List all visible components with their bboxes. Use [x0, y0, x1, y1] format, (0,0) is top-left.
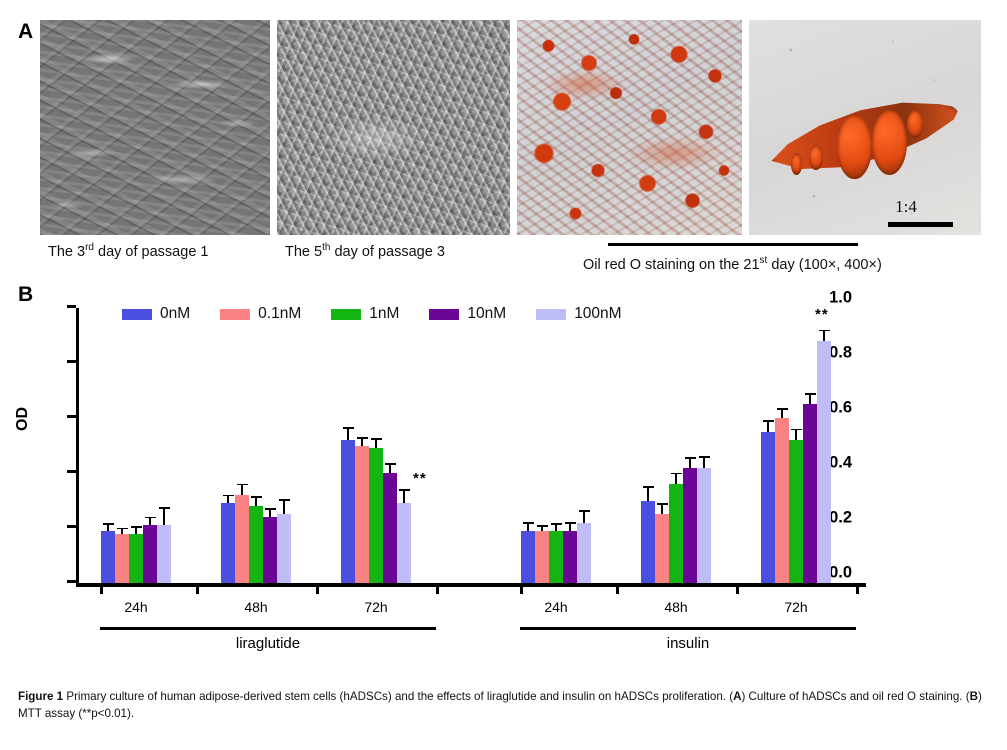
bar-insulin-72h-1nM: [789, 440, 803, 583]
error-bar: [647, 488, 649, 500]
bar-liraglutide-48h-0.1nM: [235, 495, 249, 583]
x-axis-tick-label-24h: 24h: [124, 599, 147, 615]
error-bar-cap: [657, 503, 668, 505]
bar-liraglutide-48h-0nM: [221, 503, 235, 583]
bar-liraglutide-24h-1nM: [129, 534, 143, 584]
lipid-vacuole: [791, 153, 803, 175]
caption-text-post: day of passage 3: [330, 244, 444, 260]
caption-passage1-day3: The 3rd day of passage 1: [48, 242, 208, 260]
panel-a-micrographs: A 1:4 The 3rd day of passage 1 The 5th d…: [0, 0, 1007, 275]
error-bar: [527, 524, 529, 531]
error-bar-cap: [777, 408, 788, 410]
error-bar: [121, 529, 123, 533]
supergroup-label-insulin: insulin: [667, 635, 710, 652]
error-bar: [675, 474, 677, 484]
error-bar-cap: [671, 473, 682, 475]
y-axis-tick: [67, 470, 76, 473]
adipocyte-image: 1:4: [749, 20, 981, 235]
y-axis-tick-label: 1.0: [829, 289, 852, 308]
error-bar-cap: [551, 523, 562, 525]
micrograph-passage3-day5: [277, 20, 510, 235]
error-bar: [361, 439, 363, 446]
error-bar-cap: [643, 486, 654, 488]
error-bar-cap: [103, 523, 114, 525]
caption-text-post: day of passage 1: [94, 244, 208, 260]
error-bar-cap: [371, 438, 382, 440]
error-bar-cap: [279, 499, 290, 501]
x-axis-tick: [520, 583, 523, 594]
error-bar: [107, 525, 109, 531]
lipid-vacuole: [872, 110, 907, 175]
supergroup-underline-liraglutide: [100, 627, 436, 630]
error-bar-cap: [819, 330, 830, 332]
bar-insulin-72h-100nM: [817, 341, 831, 583]
y-axis-tick: [67, 415, 76, 418]
bar-insulin-24h-0.1nM: [535, 531, 549, 583]
bar-liraglutide-24h-10nM: [143, 525, 157, 583]
error-bar-cap: [805, 393, 816, 395]
error-bar: [389, 465, 391, 473]
bar-liraglutide-48h-100nM: [277, 514, 291, 583]
bar-liraglutide-48h-10nM: [263, 517, 277, 583]
caption-sentence-2: ) Culture of hADSCs and oil red O staini…: [741, 690, 969, 703]
supergroup-label-liraglutide: liraglutide: [236, 635, 300, 652]
error-bar: [283, 501, 285, 515]
lipid-vacuole: [837, 115, 872, 180]
x-axis-tick-label-48h: 48h: [664, 599, 687, 615]
bar-insulin-72h-10nM: [803, 404, 817, 583]
bar-liraglutide-24h-0.1nM: [115, 534, 129, 584]
bar-liraglutide-24h-0nM: [101, 531, 115, 583]
error-bar: [823, 331, 825, 341]
x-axis-line: [76, 583, 866, 587]
y-axis-tick-label: 0.6: [829, 399, 852, 418]
caption-bold-b: B: [970, 690, 978, 703]
bar-insulin-48h-10nM: [683, 468, 697, 584]
error-bar-cap: [251, 496, 262, 498]
plot-area: 0.00.20.40.60.81.0****: [76, 308, 866, 583]
significance-marker: **: [413, 470, 427, 487]
error-bar: [269, 510, 271, 517]
micrograph-oil-red-o-100x: [517, 20, 742, 235]
significance-marker: **: [815, 306, 829, 323]
lipid-vacuole: [907, 110, 923, 138]
error-bar-cap: [131, 526, 142, 528]
bar-liraglutide-72h-0nM: [341, 440, 355, 583]
caption-text-post: day (100×, 400×): [767, 257, 881, 273]
caption-text-pre: The 3: [48, 244, 85, 260]
micrograph-passage1-day3: [40, 20, 270, 235]
error-bar: [689, 459, 691, 467]
bar-liraglutide-72h-1nM: [369, 448, 383, 583]
bar-liraglutide-72h-10nM: [383, 473, 397, 583]
error-bar-cap: [399, 489, 410, 491]
error-bar: [347, 429, 349, 440]
bar-liraglutide-72h-100nM: [397, 503, 411, 583]
error-bar-cap: [265, 508, 276, 510]
phase-contrast-image: [40, 20, 270, 235]
x-axis-tick-label-72h: 72h: [784, 599, 807, 615]
caption-text-pre: Oil red O staining on the 21: [583, 257, 760, 273]
x-axis-tick: [316, 583, 319, 594]
caption-ordinal-suffix: rd: [85, 242, 94, 253]
x-axis-tick-label-24h: 24h: [544, 599, 567, 615]
x-axis-tick: [436, 583, 439, 594]
error-bar-cap: [699, 456, 710, 458]
error-bar: [703, 458, 705, 468]
figure-caption: Figure 1 Primary culture of human adipos…: [18, 688, 993, 723]
bar-insulin-48h-0nM: [641, 501, 655, 584]
y-axis-tick: [67, 360, 76, 363]
error-bar: [255, 498, 257, 506]
error-bar-cap: [579, 510, 590, 512]
error-bar-cap: [791, 429, 802, 431]
error-bar-cap: [223, 495, 234, 497]
error-bar: [149, 518, 151, 525]
bar-liraglutide-24h-100nM: [157, 525, 171, 583]
error-bar: [767, 422, 769, 432]
error-bar-cap: [385, 463, 396, 465]
oil-red-o-stain-image: [517, 20, 742, 235]
bar-insulin-72h-0nM: [761, 432, 775, 583]
x-axis-tick-label-48h: 48h: [244, 599, 267, 615]
error-bar-cap: [763, 420, 774, 422]
figure-label: Figure 1: [18, 690, 63, 703]
bar-insulin-48h-1nM: [669, 484, 683, 583]
y-axis-tick-label: 0.8: [829, 344, 852, 363]
micrograph-oil-red-o-400x: 1:4: [749, 20, 981, 235]
supergroup-underline-insulin: [520, 627, 856, 630]
error-bar: [555, 525, 557, 531]
oil-red-o-group-underline: [608, 243, 858, 246]
x-axis-tick: [856, 583, 859, 594]
error-bar: [403, 491, 405, 503]
error-bar: [241, 485, 243, 495]
caption-sentence-1: Primary culture of human adipose-derived…: [63, 690, 733, 703]
panel-letter-a: A: [18, 20, 33, 44]
y-axis-tick-label: 0.4: [829, 454, 852, 473]
bar-insulin-24h-1nM: [549, 531, 563, 583]
x-axis-tick-label-72h: 72h: [364, 599, 387, 615]
scale-bar: [888, 222, 953, 227]
panel-letter-b: B: [18, 283, 33, 307]
error-bar: [569, 524, 571, 531]
error-bar: [661, 505, 663, 515]
y-axis-tick-label: 0.2: [829, 509, 852, 528]
bar-insulin-24h-10nM: [563, 531, 577, 583]
error-bar: [583, 512, 585, 523]
error-bar-cap: [685, 457, 696, 459]
error-bar: [809, 395, 811, 405]
error-bar-cap: [145, 517, 156, 519]
error-bar: [375, 440, 377, 448]
bar-liraglutide-48h-1nM: [249, 506, 263, 583]
error-bar-cap: [523, 522, 534, 524]
bar-insulin-48h-100nM: [697, 468, 711, 584]
error-bar: [163, 509, 165, 526]
y-axis-tick: [67, 580, 76, 583]
panel-b-chart: B OD 0nM0.1nM1nM10nM100nM 0.00.20.40.60.…: [0, 275, 1007, 680]
error-bar: [795, 430, 797, 440]
error-bar: [135, 528, 137, 534]
y-axis-title: OD: [14, 407, 32, 431]
y-axis-tick-label: 0.0: [829, 564, 852, 583]
caption-oil-red-o: Oil red O staining on the 21st day (100×…: [583, 255, 882, 273]
phase-contrast-image: [277, 20, 510, 235]
caption-text-pre: The 5: [285, 244, 322, 260]
error-bar-cap: [565, 522, 576, 524]
caption-passage3-day5: The 5th day of passage 3: [285, 242, 445, 260]
error-bar-cap: [117, 528, 128, 530]
error-bar-cap: [159, 507, 170, 509]
bar-insulin-48h-0.1nM: [655, 514, 669, 583]
x-axis-tick: [196, 583, 199, 594]
x-axis-tick: [736, 583, 739, 594]
error-bar-cap: [237, 484, 248, 486]
bar-liraglutide-72h-0.1nM: [355, 446, 369, 584]
error-bar: [541, 527, 543, 531]
error-bar-cap: [537, 525, 548, 527]
error-bar-cap: [343, 427, 354, 429]
error-bar-cap: [357, 437, 368, 439]
y-axis-tick: [67, 525, 76, 528]
bar-insulin-72h-0.1nM: [775, 418, 789, 583]
error-bar: [227, 496, 229, 503]
bar-insulin-24h-0nM: [521, 531, 535, 583]
x-axis-tick: [616, 583, 619, 594]
error-bar: [781, 410, 783, 418]
x-axis-tick: [100, 583, 103, 594]
scale-label: 1:4: [895, 197, 917, 217]
y-axis-tick: [67, 305, 76, 308]
bar-insulin-24h-100nM: [577, 523, 591, 584]
